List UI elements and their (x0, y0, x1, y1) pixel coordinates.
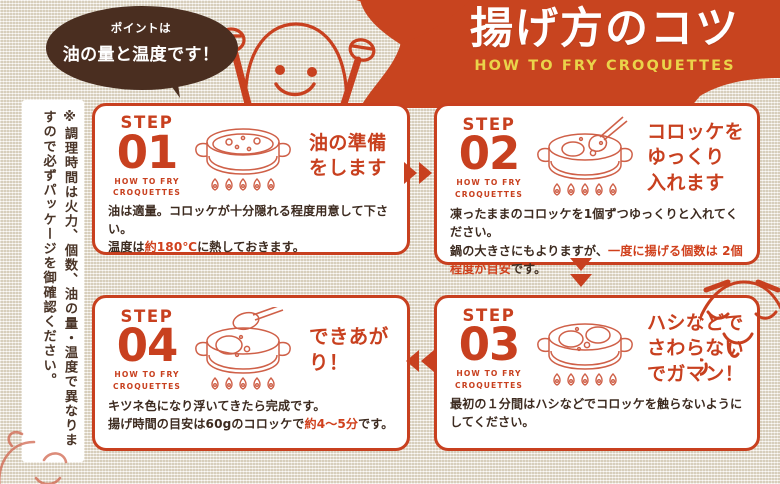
step-card-04-top: STEP 04 HOW TO FRY CROQUETTES (95, 298, 407, 393)
step-04-headline-line1: できあがり！ (309, 324, 397, 376)
step-03-number: 03 (449, 323, 529, 367)
step-02-headline: コロッケを ゆっくり 入れます (641, 120, 747, 196)
step-01-how-line2: CROQUETTES (107, 188, 187, 197)
side-note-text: ※調理時間は火力、個数、油の量・温度で異なりますので必ずパッケージを御確認くださ… (37, 110, 80, 454)
arrow-left-step3-to-step4-icon (404, 348, 434, 374)
speech-bubble (44, 6, 240, 102)
step-04-body-highlight: 約4〜5分 (305, 417, 359, 431)
step-03-body-line2: してください。 (450, 413, 747, 431)
step-02-illustration (529, 115, 641, 201)
step-04-body-line2-pre: 揚げ時間の目安は60gのコロッケで (108, 417, 305, 431)
croquette-mascot-angry-icon (700, 268, 780, 398)
step-01-illustration (187, 116, 299, 196)
step-card-04[interactable]: STEP 04 HOW TO FRY CROQUETTES (92, 295, 410, 451)
step-01-number: 01 (107, 131, 187, 175)
pot-with-oil-icon (189, 116, 297, 196)
step-01-body-line1: 油は適量。コロッケが十分隠れる程度用意して下さい。 (108, 202, 397, 239)
step-01-body-line2-post: に熱しておきます。 (197, 240, 305, 254)
step-01-headline-line1: 油の準備 (309, 131, 397, 156)
step-01-headline-line2: をします (309, 156, 397, 181)
step-04-body-line1: キツネ色になり浮いてきたら完成です。 (108, 397, 397, 415)
step-01-body-line2: 温度は約180℃に熱しておきます。 (108, 238, 397, 256)
step-card-01[interactable]: STEP 01 HOW TO FRY CROQUETTES (92, 103, 410, 255)
step-04-how-line2: CROQUETTES (107, 382, 187, 391)
step-04-illustration (187, 307, 299, 393)
step-02-headline-line1: コロッケを (647, 120, 747, 145)
infographic-canvas: 揚げ方のコツ HOW TO FRY CROQUETTES ポイントは 油の量と温… (0, 0, 780, 484)
pot-lifting-croquette-icon (189, 307, 297, 393)
step-04-body-line2-post: です。 (358, 417, 393, 431)
step-02-body-line2-pre: 鍋の大きさにもよりますが、 (450, 244, 608, 258)
step-04-marker: STEP 04 HOW TO FRY CROQUETTES (107, 309, 187, 392)
step-03-marker: STEP 03 HOW TO FRY CROQUETTES (449, 308, 529, 391)
step-02-body-highlight-b: 程度が目安 (450, 262, 511, 276)
step-04-headline: できあがり！ (299, 324, 397, 376)
step-04-body-line2: 揚げ時間の目安は60gのコロッケで約4〜5分です。 (108, 415, 397, 433)
arrow-down-step2-to-step3-icon (568, 258, 594, 290)
pot-with-chopsticks-icon (531, 115, 639, 201)
step-01-body-line2-pre: 温度は (108, 240, 145, 254)
step-04-body: キツネ色になり浮いてきたら完成です。 揚げ時間の目安は60gのコロッケで約4〜5… (95, 393, 407, 434)
step-03-illustration (529, 307, 641, 391)
step-02-headline-line3: 入れます (647, 171, 747, 196)
step-02-body-line2: 鍋の大きさにもよりますが、一度に揚げる個数は 2個 (450, 242, 747, 260)
step-02-number: 02 (449, 132, 529, 176)
step-02-marker: STEP 02 HOW TO FRY CROQUETTES (449, 117, 529, 200)
croquette-mascot-outline-icon (0, 420, 114, 484)
step-01-headline: 油の準備 をします (299, 131, 397, 182)
step-02-how-line1: HOW TO FRY (449, 178, 529, 187)
step-02-body-highlight-a: 一度に揚げる個数は 2個 (608, 244, 743, 258)
step-02-body-line3-post: です。 (511, 262, 546, 276)
step-02-how-line2: CROQUETTES (449, 190, 529, 199)
step-02-body: 凍ったままのコロッケを1個ずつゆっくりと入れてください。 鍋の大きさにもよります… (437, 201, 757, 279)
step-04-number: 04 (107, 324, 187, 368)
arrow-right-step1-to-step2-icon (404, 160, 434, 186)
step-02-headline-line2: ゆっくり (647, 145, 747, 170)
step-03-how-line1: HOW TO FRY (449, 369, 529, 378)
step-01-body: 油は適量。コロッケが十分隠れる程度用意して下さい。 温度は約180℃に熱しておき… (95, 198, 407, 257)
step-01-how-line1: HOW TO FRY (107, 177, 187, 186)
step-card-02-top: STEP 02 HOW TO FRY CROQUETTES (437, 106, 757, 201)
side-note-panel: ※調理時間は火力、個数、油の量・温度で異なりますので必ずパッケージを御確認くださ… (22, 100, 84, 462)
step-02-body-line1: 凍ったままのコロッケを1個ずつゆっくりと入れてください。 (450, 205, 747, 242)
step-01-marker: STEP 01 HOW TO FRY CROQUETTES (107, 115, 187, 198)
step-card-02[interactable]: STEP 02 HOW TO FRY CROQUETTES (434, 103, 760, 265)
step-04-how-line1: HOW TO FRY (107, 370, 187, 379)
pot-two-croquettes-icon (531, 307, 639, 391)
step-03-how-line2: CROQUETTES (449, 381, 529, 390)
step-card-01-top: STEP 01 HOW TO FRY CROQUETTES (95, 106, 407, 198)
step-01-body-highlight: 約180℃ (145, 240, 197, 254)
